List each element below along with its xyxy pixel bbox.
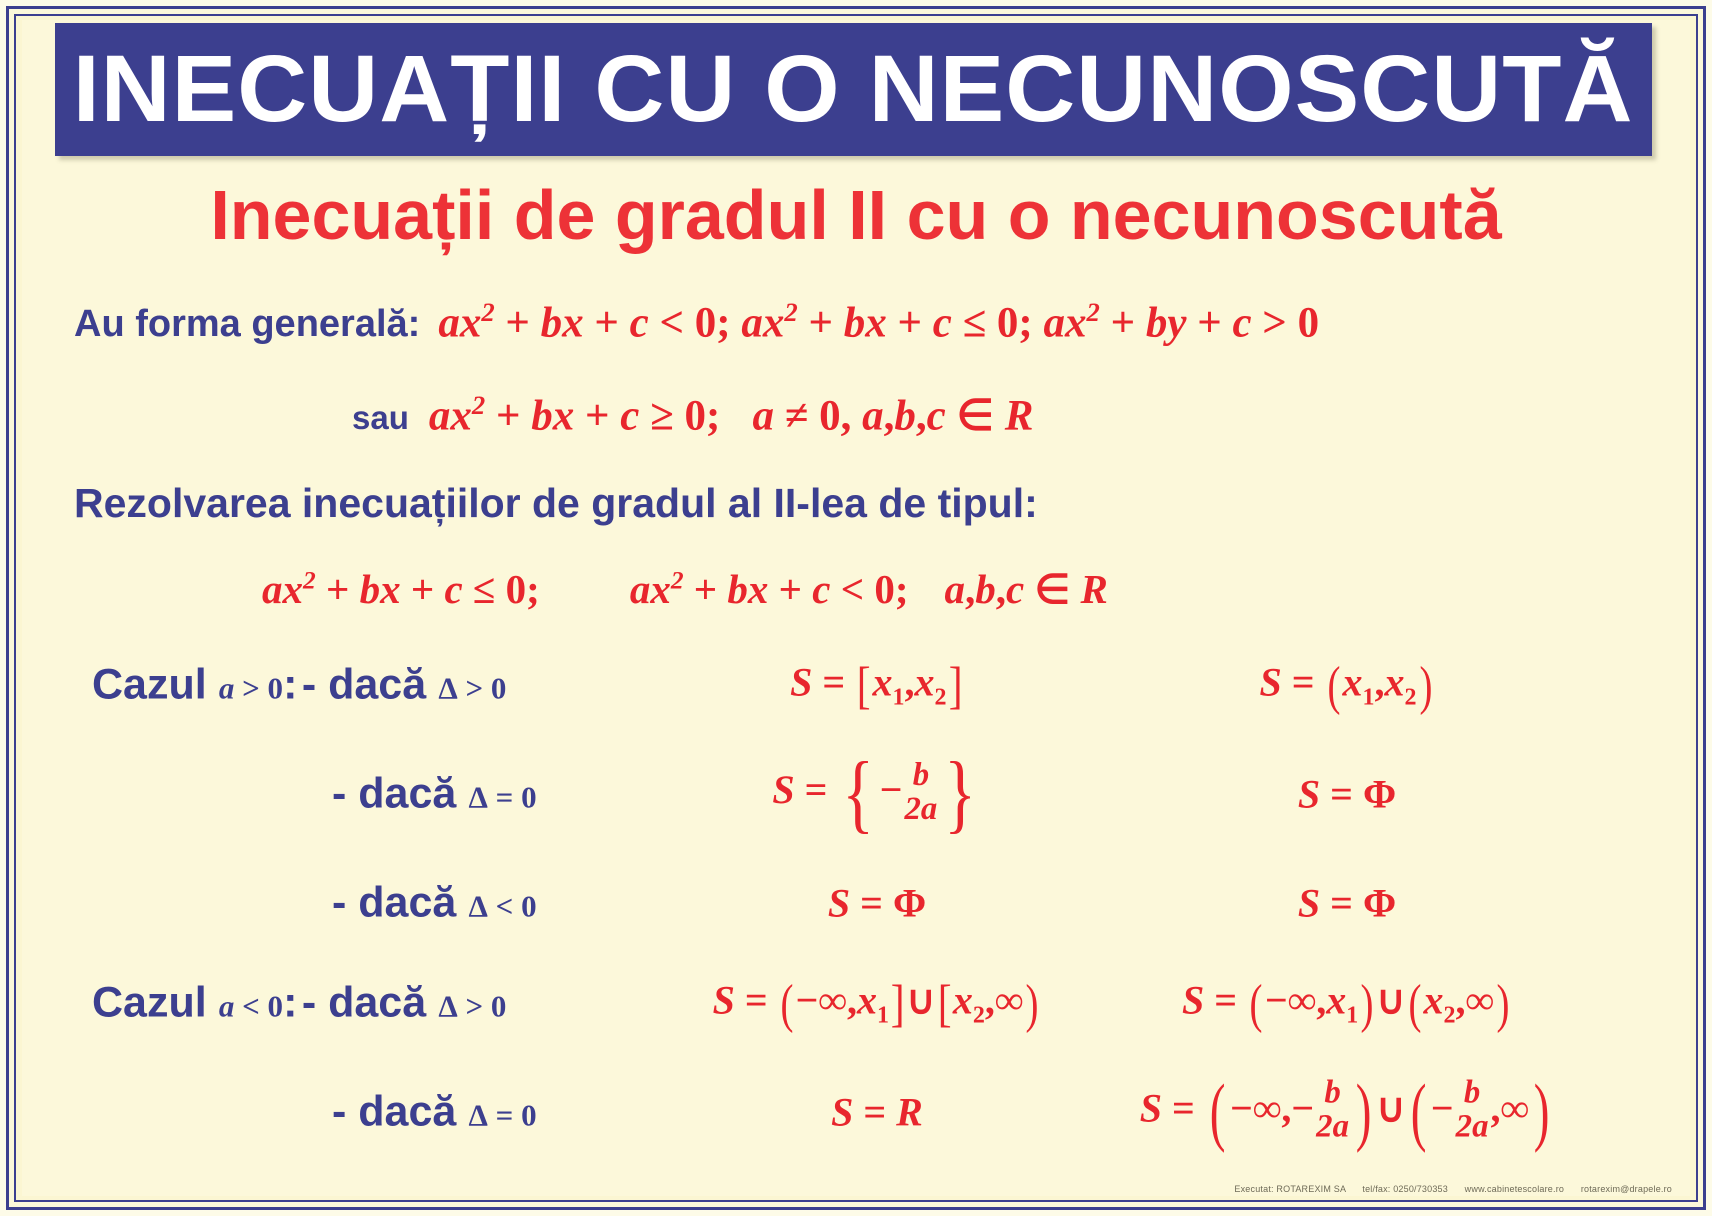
case-condition-cell: - dacă Δ = 0 bbox=[22, 1088, 662, 1137]
table-row: Cazul a > 0: - dacă Δ > 0 S = [x1,x2] S … bbox=[22, 635, 1690, 735]
solution-lt-cell: S = (−∞,x1)∪(x2,∞) bbox=[1097, 977, 1597, 1030]
general-form-or-label: sau bbox=[352, 399, 409, 437]
solution-le-value: S = (−∞,x1]∪[x2,∞) bbox=[713, 978, 1042, 1023]
condition-daca: - dacă bbox=[332, 1088, 456, 1136]
case-condition-cell: Cazul a < 0: - dacă Δ > 0 bbox=[22, 979, 662, 1028]
solution-lt-value: S = (x1,x2) bbox=[1259, 660, 1434, 705]
table-row: - dacă Δ = 0 S = R S = (−∞,−b2a)∪(−b2a,∞… bbox=[22, 1053, 1690, 1171]
solution-lt-value: S = Φ bbox=[1298, 881, 1396, 926]
solution-le-value: S = R bbox=[831, 1090, 923, 1135]
solution-lt-cell: S = Φ bbox=[1097, 880, 1597, 927]
solution-le-value: S = {−b2a} bbox=[772, 767, 981, 812]
delta-gt-zero: Δ > 0 bbox=[431, 989, 507, 1024]
solution-le-cell: S = {−b2a} bbox=[662, 759, 1092, 829]
type-le-equation: ax2 + bx + c ≤ 0; bbox=[262, 565, 540, 613]
case-colon: : bbox=[283, 979, 297, 1027]
cases-table: Cazul a > 0: - dacă Δ > 0 S = [x1,x2] S … bbox=[22, 635, 1690, 1196]
general-form-equation: ax2 + bx + c < 0; ax2 + bx + c ≤ 0; ax2 … bbox=[438, 297, 1319, 347]
footer-phone: tel/fax: 0250/730353 bbox=[1362, 1184, 1448, 1194]
poster: INECUAȚII CU O NECUNOSCUTĂ Inecuații de … bbox=[0, 0, 1712, 1216]
case-condition-cell: - dacă Δ = 0 bbox=[22, 770, 662, 819]
table-row: - dacă Δ < 0 S = Φ S = Φ bbox=[22, 853, 1690, 953]
solution-le-value: S = Φ bbox=[828, 881, 926, 926]
case-a-positive: a > 0 bbox=[211, 671, 283, 706]
solution-lt-cell: S = (−∞,−b2a)∪(−b2a,∞) bbox=[1097, 1079, 1597, 1146]
footer-email: rotarexim@drapele.ro bbox=[1581, 1184, 1672, 1194]
solving-heading: Rezolvarea inecuațiilor de gradul al II-… bbox=[74, 480, 1038, 527]
solution-le-cell: S = (−∞,x1]∪[x2,∞) bbox=[662, 977, 1092, 1030]
general-form-row: Au forma generală: ax2 + bx + c < 0; ax2… bbox=[74, 297, 1319, 347]
solution-lt-value: S = Φ bbox=[1298, 772, 1396, 817]
solution-le-cell: S = Φ bbox=[662, 880, 1092, 927]
solution-le-cell: S = R bbox=[662, 1089, 1092, 1136]
general-form-label: Au forma generală: bbox=[74, 303, 420, 346]
fraction-b-over-2a: b2a bbox=[1456, 1077, 1489, 1144]
solution-lt-value: S = (−∞,x1)∪(x2,∞) bbox=[1182, 978, 1512, 1023]
type-domain: a,b,c ∈ R bbox=[945, 565, 1108, 613]
case-a-negative: a < 0 bbox=[211, 989, 283, 1024]
title-banner: INECUAȚII CU O NECUNOSCUTĂ bbox=[55, 23, 1652, 156]
condition-daca: - dacă bbox=[332, 770, 456, 818]
case-condition-cell: - dacă Δ < 0 bbox=[22, 879, 662, 928]
solution-le-cell: S = [x1,x2] bbox=[662, 659, 1092, 712]
fraction-b-over-2a: b2a bbox=[1316, 1077, 1349, 1144]
condition-daca: - dacă bbox=[302, 979, 426, 1027]
footer-credits: Executat: ROTAREXIM SA tel/fax: 0250/730… bbox=[44, 1184, 1690, 1194]
solving-types-row: ax2 + bx + c ≤ 0; ax2 + bx + c < 0; a,b,… bbox=[262, 565, 1108, 613]
table-row: Cazul a < 0: - dacă Δ > 0 S = (−∞,x1]∪[x… bbox=[22, 953, 1690, 1053]
case-condition-cell: Cazul a > 0: - dacă Δ > 0 bbox=[22, 661, 662, 710]
type-lt-equation: ax2 + bx + c < 0; bbox=[630, 565, 909, 613]
page-title: INECUAȚII CU O NECUNOSCUTĂ bbox=[73, 42, 1634, 137]
condition-daca: - dacă bbox=[302, 661, 426, 709]
solution-le-value: S = [x1,x2] bbox=[790, 660, 964, 705]
general-form-alt-equation: ax2 + bx + c ≥ 0; a ≠ 0, a,b,c ∈ R bbox=[429, 390, 1034, 440]
condition-daca: - dacă bbox=[332, 879, 456, 927]
case-label: Cazul bbox=[92, 979, 207, 1027]
table-row: - dacă Δ = 0 S = {−b2a} S = Φ bbox=[22, 735, 1690, 853]
delta-eq-zero: Δ = 0 bbox=[461, 1098, 537, 1133]
subtitle: Inecuații de gradul II cu o necunoscută bbox=[22, 180, 1690, 250]
delta-eq-zero: Δ = 0 bbox=[461, 780, 537, 815]
poster-sheet: INECUAȚII CU O NECUNOSCUTĂ Inecuații de … bbox=[22, 20, 1690, 1196]
solution-lt-cell: S = (x1,x2) bbox=[1097, 659, 1597, 712]
fraction-b-over-2a: b2a bbox=[905, 759, 938, 826]
case-colon: : bbox=[283, 661, 297, 709]
delta-gt-zero: Δ > 0 bbox=[431, 671, 507, 706]
general-form-alt-row: sau ax2 + bx + c ≥ 0; a ≠ 0, a,b,c ∈ R bbox=[352, 390, 1033, 440]
solution-lt-value: S = (−∞,−b2a)∪(−b2a,∞) bbox=[1140, 1085, 1555, 1130]
footer-printer: Executat: ROTAREXIM SA bbox=[1234, 1184, 1345, 1194]
footer-web: www.cabinetescolare.ro bbox=[1465, 1184, 1564, 1194]
delta-lt-zero: Δ < 0 bbox=[461, 889, 537, 924]
case-label: Cazul bbox=[92, 661, 207, 709]
solution-lt-cell: S = Φ bbox=[1097, 771, 1597, 818]
